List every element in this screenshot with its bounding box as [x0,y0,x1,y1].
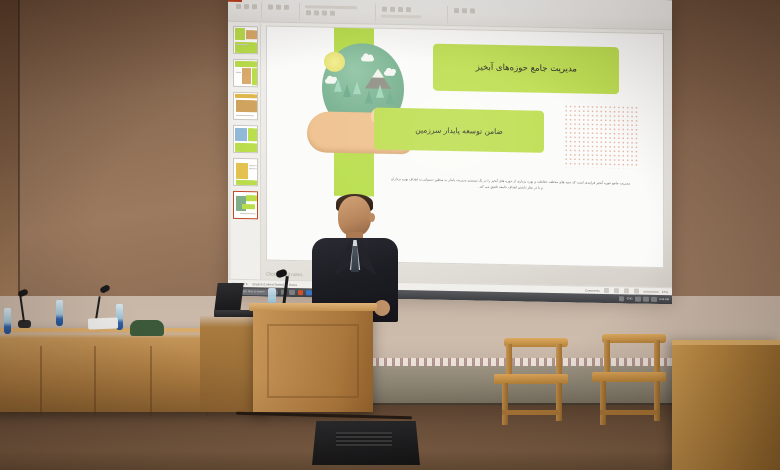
tree-icon [376,85,384,98]
tree-icon [386,90,394,103]
water-bottle [4,308,11,334]
word-icon[interactable] [306,290,312,296]
water-bottle [56,300,63,326]
papers-on-table [88,317,118,329]
notes-toggle[interactable]: Notes [289,282,297,286]
slide-thumbnail-4[interactable] [233,125,258,153]
show-desktop-icon[interactable] [619,296,625,302]
slideshow-icon[interactable] [634,289,639,294]
podium [253,308,373,412]
podium-front-panel [267,324,359,398]
speaker-vent-grille [336,432,392,447]
font-color-icon[interactable] [330,11,335,16]
slide-thumbnail-3[interactable] [233,92,258,120]
presenter-ear [369,213,375,222]
tree-icon [353,81,361,94]
zoom-slider[interactable] [643,290,659,292]
language-tray[interactable]: ENG [627,297,633,300]
laptop-screen [214,283,243,311]
layout-icon[interactable] [276,5,281,10]
edge-icon[interactable] [289,290,295,296]
left-wall-panel [0,0,19,300]
dot-pattern-decoration [564,104,639,168]
underline-icon[interactable] [322,11,327,16]
sorter-view-icon[interactable] [614,288,619,293]
reading-view-icon[interactable] [624,288,629,293]
cloud-icon [384,71,395,76]
align-left-icon[interactable] [398,7,403,12]
ribbon-group-slides[interactable] [264,2,300,21]
cloud-icon [325,78,336,83]
align-center-icon[interactable] [406,7,411,12]
quick-styles-icon[interactable] [470,8,475,13]
ribbon-group-font[interactable] [302,3,376,22]
language-indicator[interactable]: English (United States) [252,282,284,287]
new-slide-icon[interactable] [268,5,273,10]
battery-icon[interactable] [651,297,657,303]
volume-icon[interactable] [643,296,649,302]
shapes-icon[interactable] [454,8,459,13]
slide-thumbnail-1[interactable] [233,26,258,54]
paragraph-extra [381,15,421,19]
cloud-icon [361,56,374,61]
font-name-box[interactable] [305,5,357,9]
presenter-head [338,196,371,236]
slide-thumbnail-pane[interactable] [231,23,261,281]
arrange-icon[interactable] [462,8,467,13]
left-wall-edge [18,0,20,300]
lecture-hall-photo: File Home Insert Design Transitions [0,0,780,470]
italic-icon[interactable] [314,10,319,15]
comments-button[interactable]: Comments [585,288,600,292]
slide-thumbnail-5[interactable] [233,158,258,186]
slide-thumbnail-6[interactable] [233,191,258,219]
slide-thumbnail-2[interactable] [233,59,258,87]
bullets-icon[interactable] [382,7,387,12]
normal-view-icon[interactable] [604,288,609,293]
zoom-level[interactable]: 67% [662,290,668,294]
reset-icon[interactable] [284,5,289,10]
tree-icon [343,84,351,97]
wooden-barrier [672,340,780,470]
ribbon-group-paragraph[interactable] [378,5,448,24]
laptop-base [214,310,258,317]
tree-icon [365,90,373,103]
slide-title: مدیریت جامع حوزه‌های آبخیز [433,44,619,94]
green-chair [130,320,164,336]
copy-icon[interactable] [252,4,257,9]
explorer-icon[interactable] [298,290,304,296]
paste-icon[interactable] [236,4,241,9]
network-icon[interactable] [635,296,641,302]
numbering-icon[interactable] [390,7,395,12]
podium-top-surface [249,303,377,311]
cut-icon[interactable] [244,4,249,9]
left-wall [0,0,232,300]
ribbon-group-clipboard[interactable] [232,2,262,21]
ribbon-group-drawing[interactable] [450,6,540,26]
slide-body-text: مدیریت جامع حوزه آبخیز فرایندی است که جن… [390,176,632,223]
projection-screen: File Home Insert Design Transitions [228,0,672,304]
taskbar-clock[interactable]: 4:34 AM [659,298,669,301]
sun-icon [324,52,345,72]
slide-subtitle: ضامن توسعه پایدار سرزمین [374,108,544,153]
bold-icon[interactable] [306,10,311,15]
